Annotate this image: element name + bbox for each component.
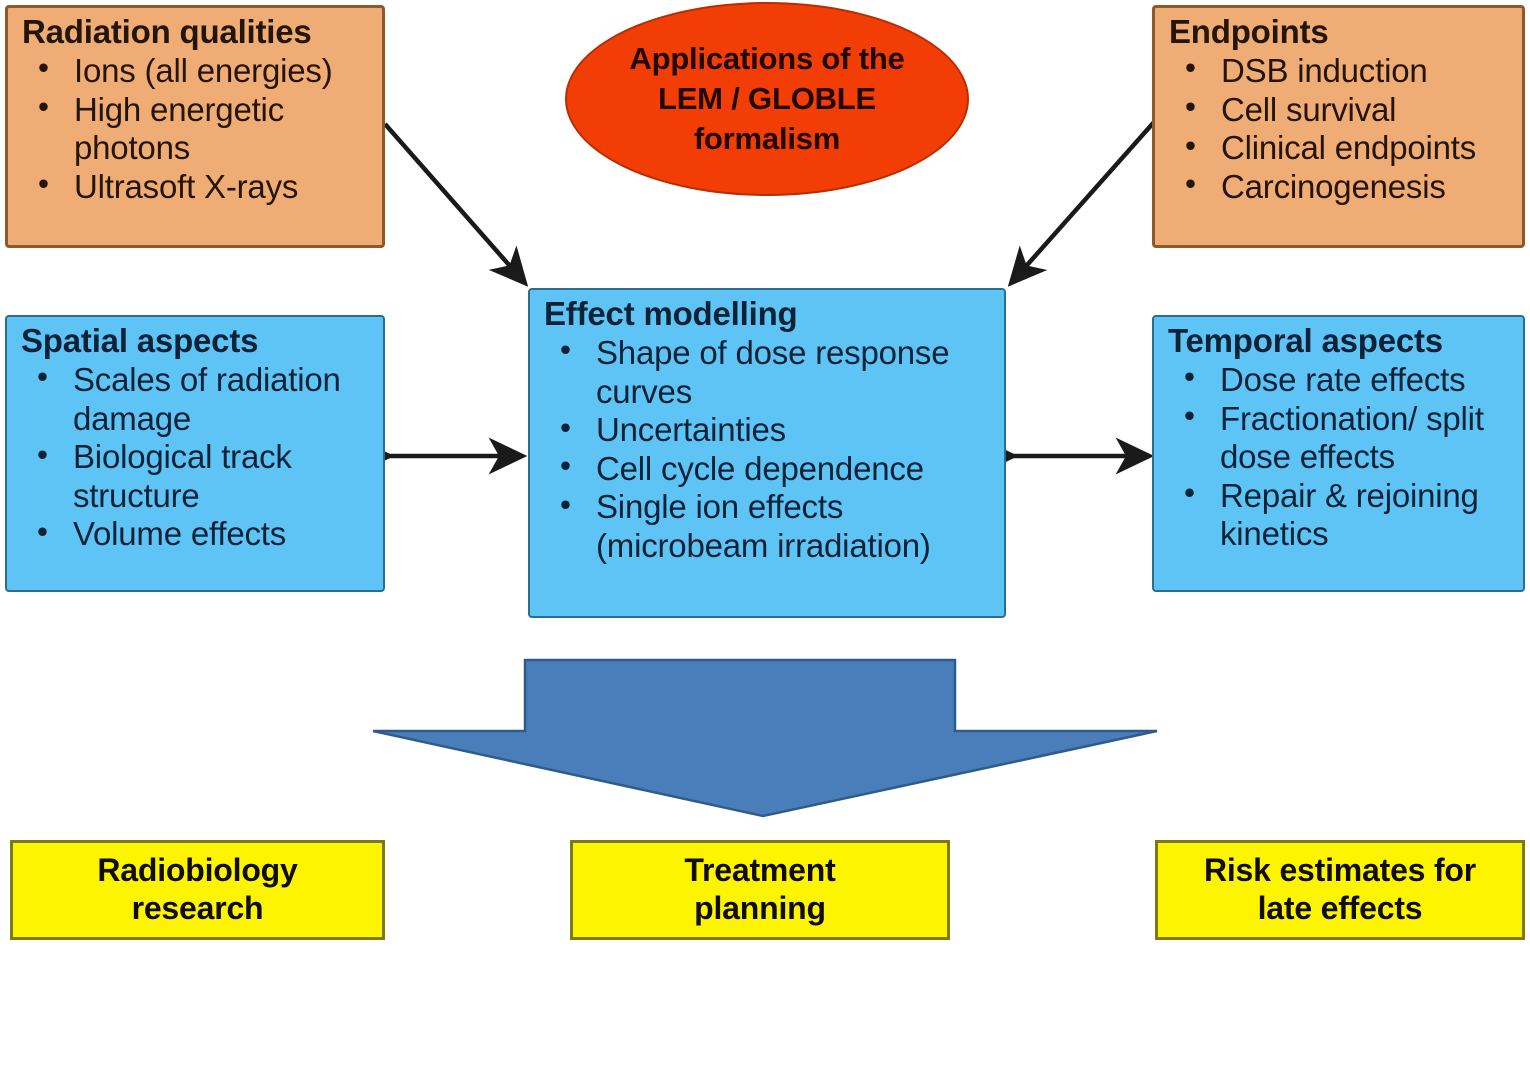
bullet-list: •Ions (all energies) •High energetic pho… [22, 52, 372, 206]
outcome-line-1: Radiobiology [97, 852, 297, 890]
bullet-icon: • [38, 50, 49, 87]
outcome-risk-estimates: Risk estimates for late effects [1155, 840, 1525, 940]
ellipse-line-3: formalism [629, 119, 904, 159]
title-ellipse: Applications of the LEM / GLOBLE formali… [565, 2, 969, 196]
list-item-label: High energetic photons [74, 91, 284, 167]
list-item-label: Cell survival [1221, 91, 1396, 128]
box-endpoints: Endpoints •DSB induction •Cell survival … [1152, 5, 1525, 248]
bullet-icon: • [560, 448, 571, 485]
bullet-icon: • [38, 166, 49, 203]
outcome-line-2: planning [684, 890, 835, 928]
list-item: •Single ion effects (microbeam irradiati… [544, 488, 994, 565]
list-item-label: Volume effects [73, 515, 286, 552]
list-item-label: Biological track structure [73, 438, 292, 514]
outcome-treatment-planning: Treatment planning [570, 840, 950, 940]
list-item: •Ions (all energies) [22, 52, 372, 91]
bullet-icon: • [560, 410, 571, 447]
bullet-icon: • [560, 487, 571, 524]
list-item: •Cell cycle dependence [544, 450, 994, 489]
outcome-line-2: late effects [1204, 890, 1476, 928]
list-item-label: Dose rate effects [1220, 361, 1465, 398]
list-item: •Clinical endpoints [1169, 129, 1512, 168]
list-item: •Dose rate effects [1168, 361, 1513, 400]
list-item: •Cell survival [1169, 91, 1512, 130]
list-item: •Uncertainties [544, 411, 994, 450]
ellipse-line-2: LEM / GLOBLE [629, 79, 904, 119]
list-item-label: Cell cycle dependence [596, 450, 924, 487]
bullet-icon: • [37, 514, 48, 551]
list-item: •Carcinogenesis [1169, 168, 1512, 207]
box-title: Spatial aspects [21, 323, 373, 360]
endpoints-to-effect-arrow [1012, 121, 1155, 282]
box-temporal-aspects: Temporal aspects •Dose rate effects •Fra… [1152, 315, 1525, 592]
outcome-line-2: research [97, 890, 297, 928]
box-radiation-qualities: Radiation qualities •Ions (all energies)… [5, 5, 385, 248]
list-item-label: Ultrasoft X-rays [74, 168, 298, 205]
list-item-label: Clinical endpoints [1221, 129, 1476, 166]
list-item-label: Single ion effects (microbeam irradiatio… [596, 488, 931, 564]
box-title: Effect modelling [544, 296, 994, 333]
diagram-canvas: Applications of the LEM / GLOBLE formali… [0, 0, 1530, 1080]
list-item: •Fractionation/ split dose effects [1168, 400, 1513, 477]
bullet-icon: • [1184, 359, 1195, 396]
list-item: •Volume effects [21, 515, 373, 554]
list-item-label: Uncertainties [596, 411, 786, 448]
bullet-list: •Scales of radiation damage •Biological … [21, 361, 373, 554]
outcome-radiobiology-research: Radiobiology research [10, 840, 385, 940]
bullet-list: •Shape of dose response curves •Uncertai… [544, 334, 994, 566]
box-spatial-aspects: Spatial aspects •Scales of radiation dam… [5, 315, 385, 592]
list-item-label: Repair & rejoining kinetics [1220, 477, 1479, 553]
list-item-label: DSB induction [1221, 52, 1428, 89]
radiation-to-effect-arrow [385, 124, 524, 282]
box-title: Endpoints [1169, 14, 1512, 51]
bullet-icon: • [1184, 475, 1195, 512]
ellipse-line-1: Applications of the [629, 39, 904, 79]
bullet-icon: • [1185, 166, 1196, 203]
bullet-list: •DSB induction •Cell survival •Clinical … [1169, 52, 1512, 206]
effect-to-outcomes-big-arrow [373, 660, 1157, 816]
box-title: Temporal aspects [1168, 323, 1513, 360]
outcome-line-1: Risk estimates for [1204, 852, 1476, 890]
list-item-label: Carcinogenesis [1221, 168, 1446, 205]
list-item: •Ultrasoft X-rays [22, 168, 372, 207]
bullet-icon: • [37, 437, 48, 474]
bullet-list: •Dose rate effects •Fractionation/ split… [1168, 361, 1513, 554]
box-effect-modelling: Effect modelling •Shape of dose response… [528, 288, 1006, 618]
box-title: Radiation qualities [22, 14, 372, 51]
bullet-icon: • [37, 359, 48, 396]
list-item: •Shape of dose response curves [544, 334, 994, 411]
list-item: •Repair & rejoining kinetics [1168, 477, 1513, 554]
list-item-label: Scales of radiation damage [73, 361, 341, 437]
list-item: •Biological track structure [21, 438, 373, 515]
bullet-icon: • [1185, 89, 1196, 126]
list-item-label: Shape of dose response curves [596, 334, 949, 410]
outcome-line-1: Treatment [684, 852, 835, 890]
list-item: •High energetic photons [22, 91, 372, 168]
list-item-label: Fractionation/ split dose effects [1220, 400, 1484, 476]
bullet-icon: • [560, 332, 571, 369]
bullet-icon: • [1184, 398, 1195, 435]
list-item: •DSB induction [1169, 52, 1512, 91]
list-item-label: Ions (all energies) [74, 52, 333, 89]
list-item: •Scales of radiation damage [21, 361, 373, 438]
bullet-icon: • [1185, 128, 1196, 165]
bullet-icon: • [1185, 50, 1196, 87]
bullet-icon: • [38, 89, 49, 126]
